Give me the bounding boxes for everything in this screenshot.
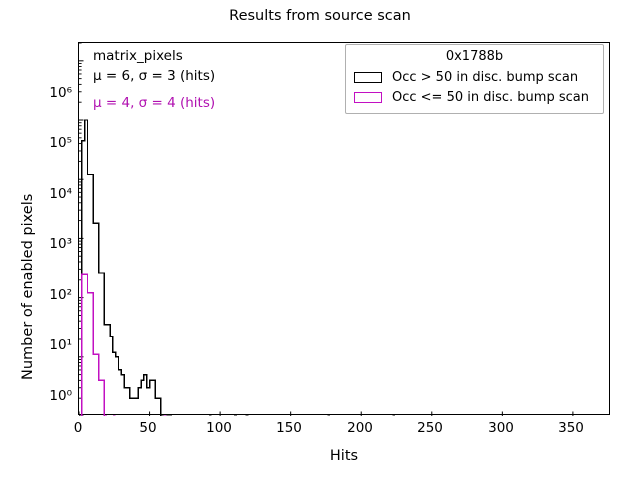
x-tick-label: 50 — [118, 420, 178, 436]
x-tick-label: 350 — [541, 420, 601, 436]
legend-label: Occ > 50 in disc. bump scan — [392, 70, 578, 85]
legend-swatch-icon — [354, 92, 382, 103]
legend-box: 0x1788b Occ > 50 in disc. bump scan Occ … — [345, 44, 604, 114]
y-tick-label: 10¹ — [26, 337, 72, 353]
figure-canvas: Results from source scan Number of enabl… — [0, 0, 640, 480]
x-tick-label: 250 — [400, 420, 460, 436]
data-series-group — [82, 120, 395, 416]
y-tick-label: 10² — [26, 287, 72, 303]
legend-swatch-icon — [354, 72, 382, 83]
legend-entry-black: Occ > 50 in disc. bump scan — [354, 67, 595, 87]
x-axis-label: Hits — [78, 448, 610, 464]
y-tick-label: 10⁵ — [26, 135, 72, 151]
x-tick-label: 300 — [471, 420, 531, 436]
x-tick-label: 100 — [189, 420, 249, 436]
legend-title: 0x1788b — [354, 49, 595, 64]
x-tick-label: 150 — [259, 420, 319, 436]
legend-entry-magenta: Occ <= 50 in disc. bump scan — [354, 87, 595, 107]
legend-label: Occ <= 50 in disc. bump scan — [392, 90, 589, 105]
chart-title: Results from source scan — [0, 8, 640, 24]
y-tick-label: 10⁰ — [26, 388, 72, 404]
x-tick-label: 200 — [330, 420, 390, 436]
y-tick-label: 10⁴ — [26, 186, 72, 202]
y-tick-label: 10³ — [26, 236, 72, 252]
x-tick-label: 0 — [48, 420, 108, 436]
y-tick-label: 10⁶ — [26, 85, 72, 101]
